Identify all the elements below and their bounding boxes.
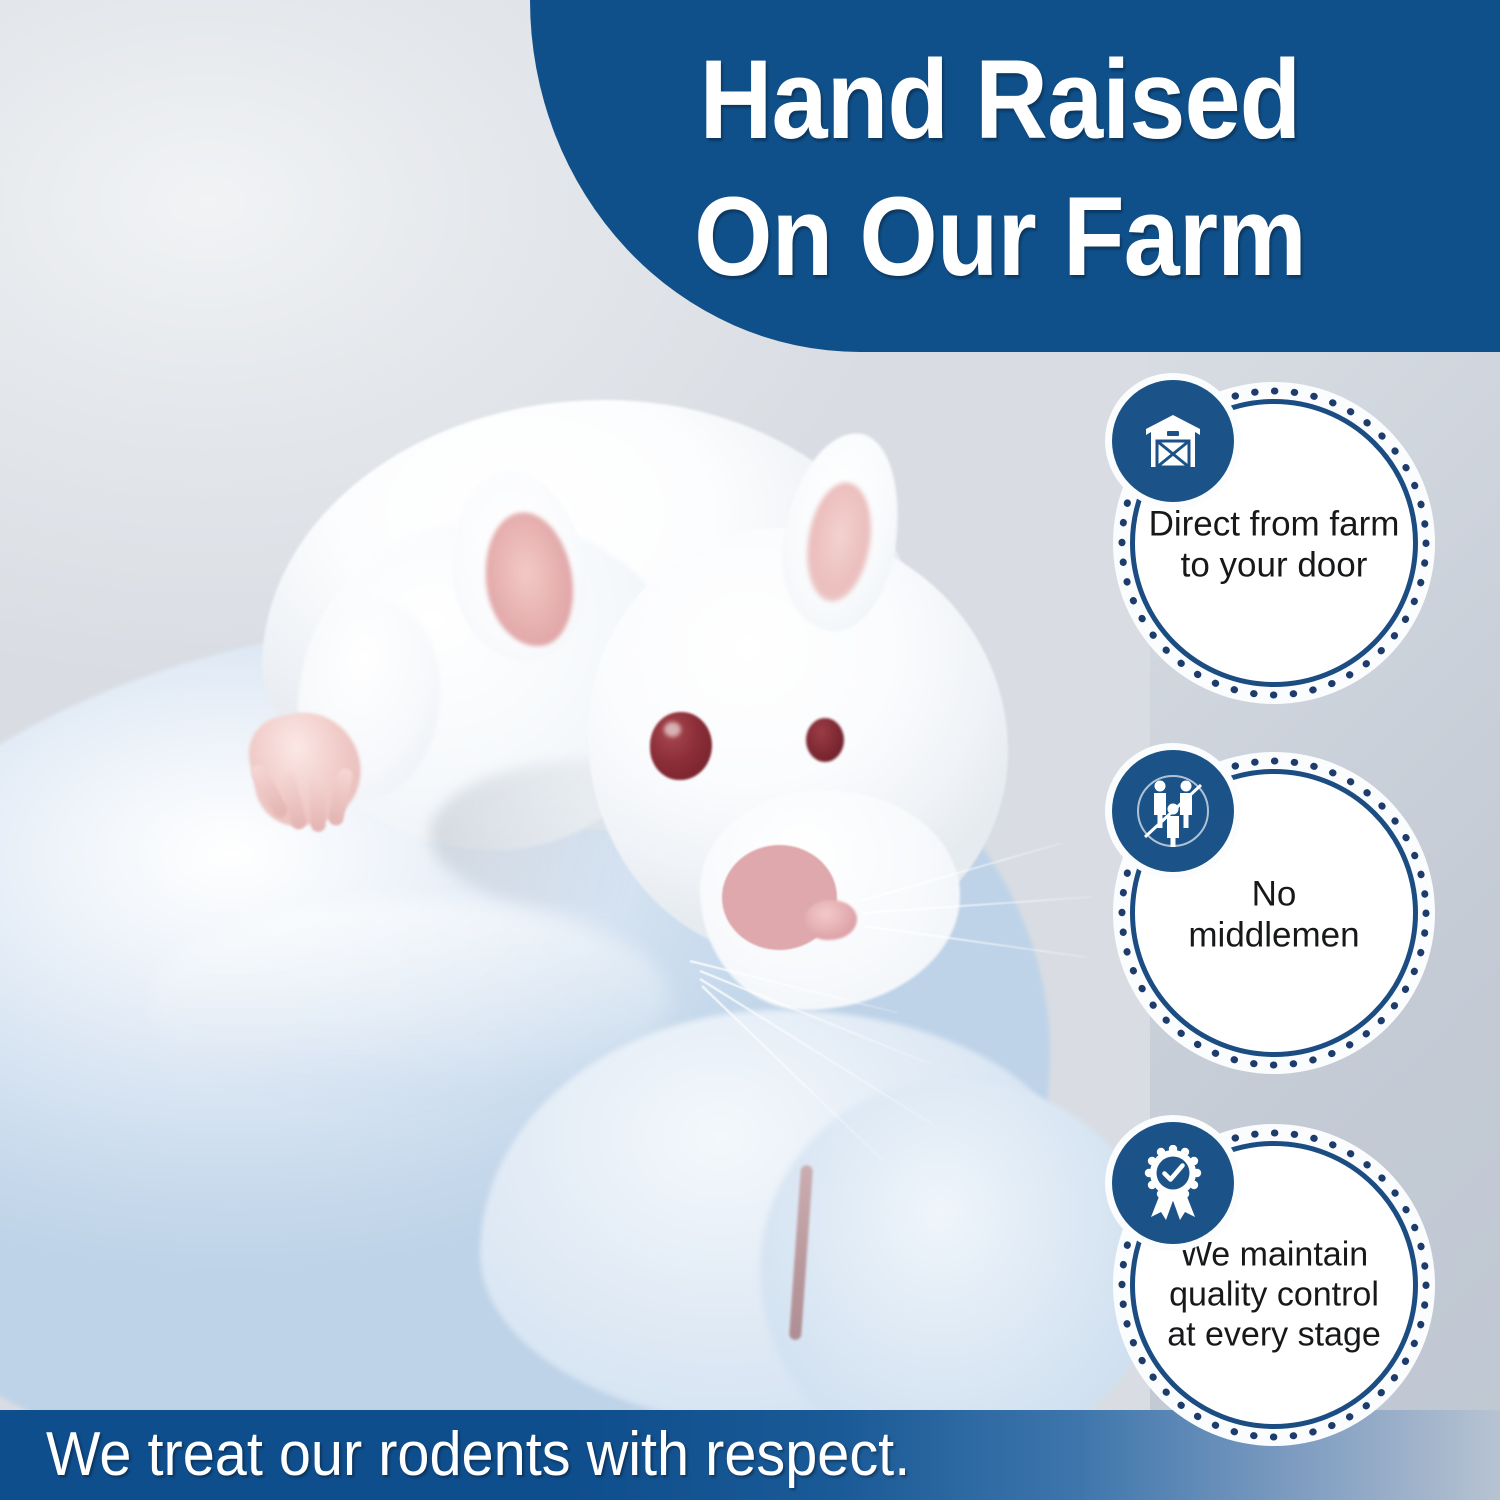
badge-label: We maintain quality control at every sta…: [1143, 1234, 1405, 1354]
footer-tagline: We treat our rodents with respect.: [46, 1424, 910, 1486]
feature-badge-no-middlemen[interactable]: No middlemen: [1113, 752, 1435, 1074]
mouse-eye-far: [806, 718, 844, 762]
gloved-finger: [760, 1080, 1150, 1440]
feature-badge-quality-control[interactable]: We maintain quality control at every sta…: [1113, 1124, 1435, 1446]
feature-badge-direct-from-farm[interactable]: Direct from farm to your door: [1113, 382, 1435, 704]
badge-label: Direct from farm to your door: [1143, 503, 1405, 586]
header-banner: Hand Raised On Our Farm: [530, 0, 1500, 352]
mouse-eye-glint: [664, 722, 681, 737]
award-ribbon-icon: [1112, 1122, 1234, 1244]
feature-badge-list: Direct from farm to your door: [1110, 382, 1440, 1492]
page-title: Hand Raised On Our Farm: [577, 32, 1423, 305]
barn-icon: [1112, 380, 1234, 502]
mouse-toe: [309, 774, 326, 832]
promo-infographic: Hand Raised On Our Farm Direct from: [0, 0, 1500, 1500]
no-middlemen-icon: [1112, 750, 1234, 872]
mouse-eye-near: [650, 712, 712, 780]
badge-label: No middlemen: [1143, 873, 1405, 956]
